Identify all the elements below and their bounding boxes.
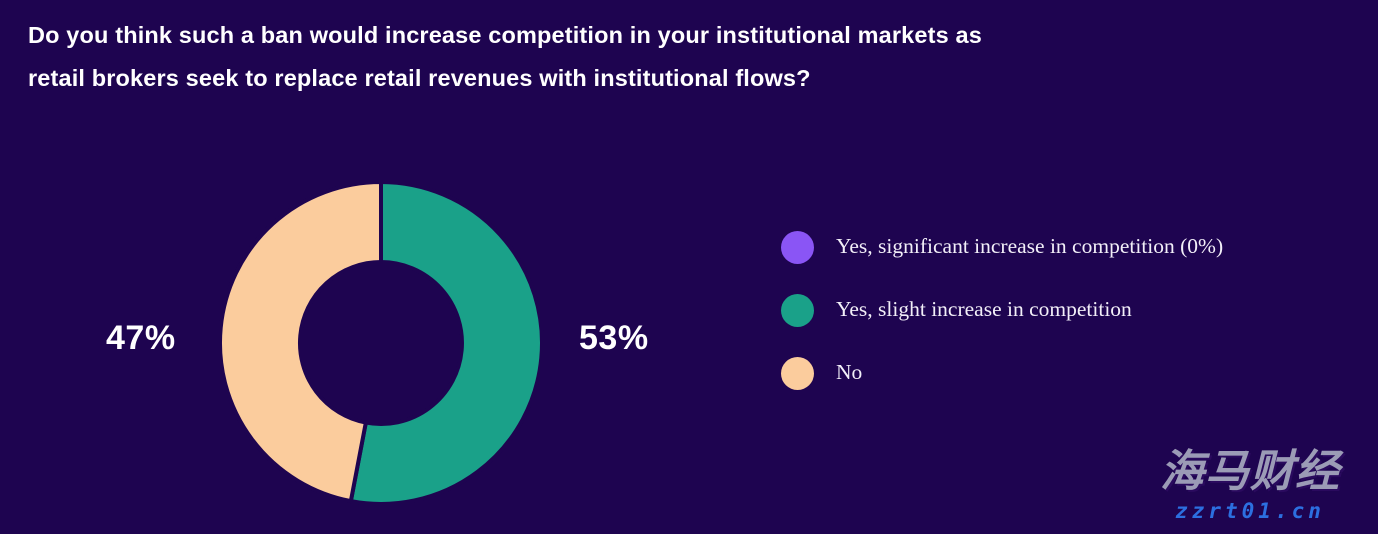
legend-item-significant-increase[interactable]: Yes, significant increase in competition… bbox=[781, 230, 1341, 264]
legend-dot-slight-increase bbox=[781, 294, 814, 327]
percent-label-slight-increase: 53% bbox=[579, 321, 649, 355]
donut-chart bbox=[216, 178, 546, 508]
percent-label-no: 47% bbox=[106, 321, 176, 355]
chart-canvas: Do you think such a ban would increase c… bbox=[0, 0, 1378, 534]
chart-legend: Yes, significant increase in competition… bbox=[781, 230, 1341, 390]
watermark-brand: 海马财经 bbox=[1128, 447, 1372, 497]
watermark-url: zzrt01.cn bbox=[1128, 498, 1372, 524]
legend-dot-significant-increase bbox=[781, 231, 814, 264]
legend-label-no: No bbox=[836, 362, 862, 384]
donut-chart-svg bbox=[216, 178, 546, 508]
legend-label-significant-increase: Yes, significant increase in competition… bbox=[836, 236, 1223, 258]
page-title: Do you think such a ban would increase c… bbox=[28, 14, 1288, 100]
legend-dot-no bbox=[781, 357, 814, 390]
legend-item-slight-increase[interactable]: Yes, slight increase in competition bbox=[781, 293, 1341, 327]
watermark: 海马财经 zzrt01.cn bbox=[1128, 447, 1372, 531]
legend-item-no[interactable]: No bbox=[781, 356, 1341, 390]
legend-label-slight-increase: Yes, slight increase in competition bbox=[836, 299, 1132, 321]
donut-slice-no[interactable] bbox=[220, 182, 381, 501]
